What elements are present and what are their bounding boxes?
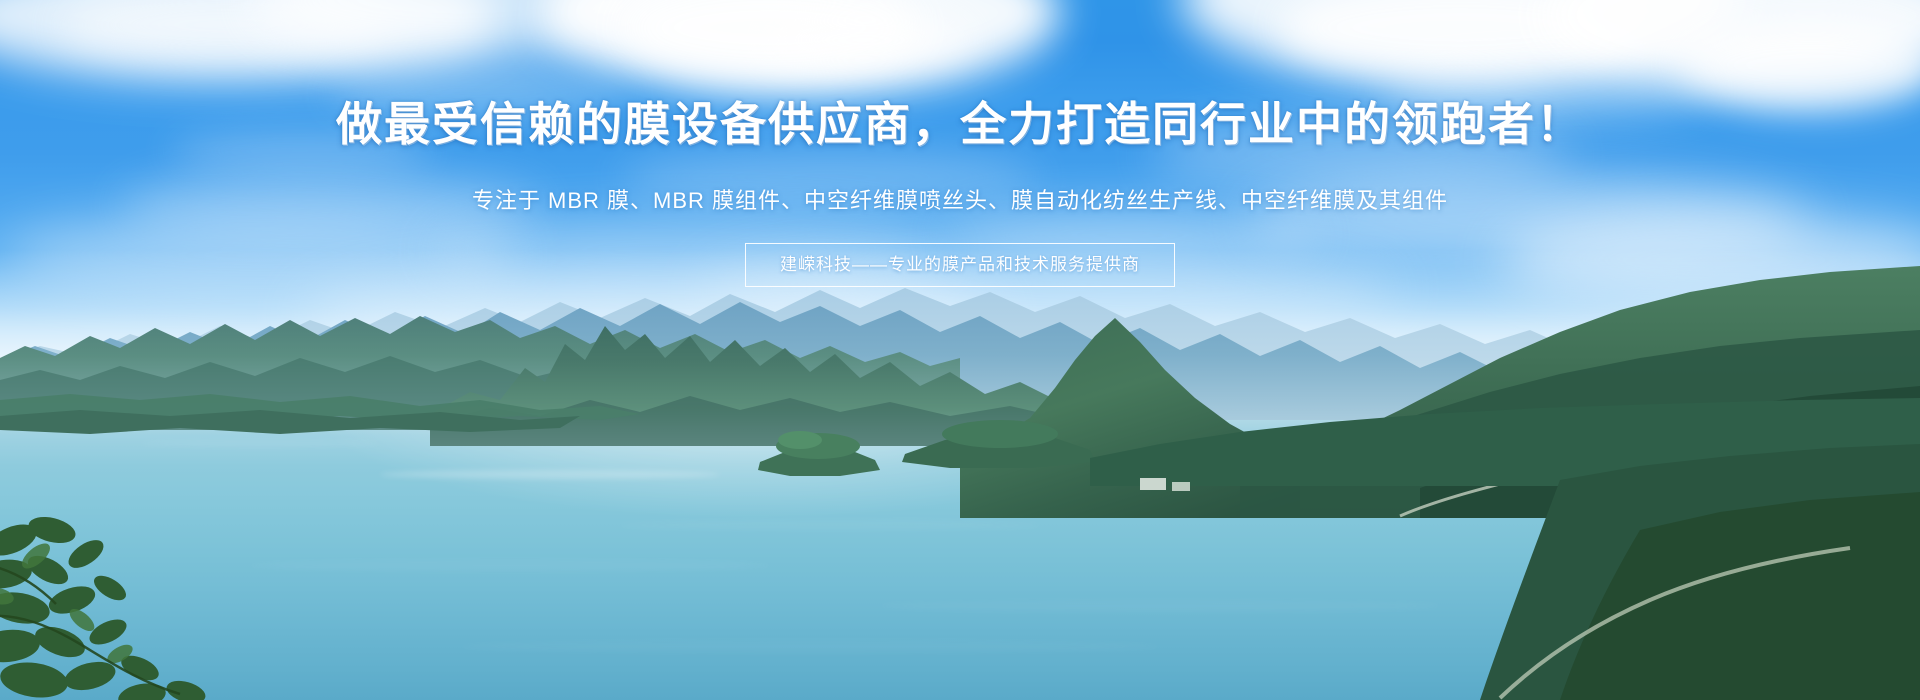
tagline-box: 建嵘科技——专业的膜产品和技术服务提供商: [745, 243, 1175, 287]
page-title: 做最受信赖的膜设备供应商，全力打造同行业中的领跑者！: [0, 97, 1920, 151]
hero-text-block: 做最受信赖的膜设备供应商，全力打造同行业中的领跑者！ 专注于 MBR 膜、MBR…: [0, 0, 1920, 700]
hero-banner: 做最受信赖的膜设备供应商，全力打造同行业中的领跑者！ 专注于 MBR 膜、MBR…: [0, 0, 1920, 700]
page-subtitle: 专注于 MBR 膜、MBR 膜组件、中空纤维膜喷丝头、膜自动化纺丝生产线、中空纤…: [0, 185, 1920, 217]
